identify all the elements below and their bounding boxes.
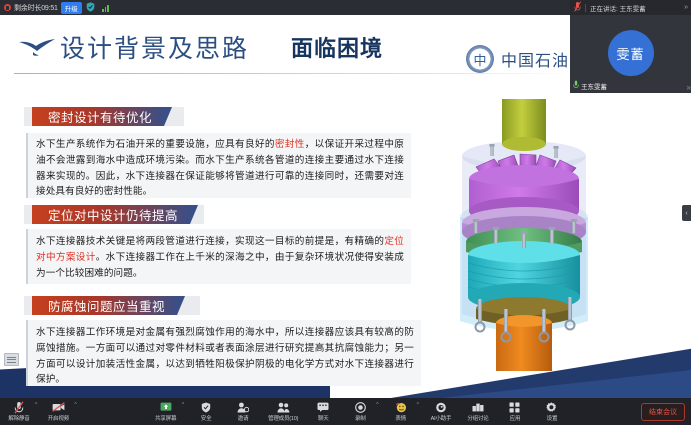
end-meeting-button[interactable]: 结束会议 [641,403,685,421]
participants-icon [277,402,290,413]
mic-muted-icon [574,1,581,14]
chevron-up-icon[interactable]: ^ [35,402,37,408]
gear-icon [546,402,557,413]
participants-label: 管理成员(10) [268,414,298,422]
petrochina-logo-icon [466,45,494,73]
reactions-control[interactable]: 表情 ^ [386,402,419,422]
start-video-button[interactable]: 开启视频 [43,402,73,422]
avatar: 雯蓄 [608,30,654,76]
paragraph-2: 水下连接器技术关键是将两段管道进行连接，实现这一目标的前提是，有精确的定位对中方… [36,234,404,281]
reactions-label: 表情 [395,414,406,422]
security-button[interactable]: 安全 [191,402,221,422]
invite-button[interactable]: 邀请 [228,402,258,422]
participants-button[interactable]: 管理成员(10) [265,402,301,422]
mic-on-icon [573,80,579,91]
start-video-label: 开启视频 [48,414,69,422]
record-label: 录制 [355,414,366,422]
paragraph-1: 水下生产系统作为石油开采的重要设施，应具有良好的密封性，以保证开采过程中原油不会… [36,137,404,200]
breakout-rooms-label: 分组讨论 [467,414,488,422]
subsea-connector-3d-model [432,99,607,371]
chevron-up-icon[interactable]: ^ [74,402,76,408]
unmute-label: 解除静音 [8,414,29,422]
double-chevron-right-icon[interactable]: » [684,4,687,11]
apps-button[interactable]: 应用 [500,402,530,422]
apps-label: 应用 [510,414,521,422]
para-2-part-0: 水下连接器技术关键是将两段管道进行连接，实现这一目标的前提是，有精确的 [36,236,384,247]
para-1-highlight: 密封性 [275,139,305,150]
brand-label: 中国石油 [501,47,569,71]
breakout-rooms-button[interactable]: 分组讨论 [463,402,493,422]
breakout-rooms-icon [472,402,484,413]
security-label: 安全 [201,414,212,422]
shield-icon[interactable] [85,0,97,17]
toolbar-middle-group: 共享屏幕 ^ 安全 邀请 管理成员(10) 聊天 [151,402,567,422]
apps-grid-icon [509,402,520,413]
page-subtitle: 面临困境 [291,31,383,63]
chat-label: 聊天 [318,414,329,422]
reactions-icon [395,402,407,413]
recording-indicator-icon [4,4,11,11]
video-participant-tile[interactable]: 雯蓄 王东雯蓄 » [570,15,691,93]
active-speaker-banner: 正在讲话: 王东雯蓄 » [570,0,691,15]
start-video-control[interactable]: 开启视频 ^ [43,402,76,422]
paragraph-3: 水下连接器工作环境是对金属有强烈腐蚀作用的海水中，所以连接器应该具有较高的防腐蚀… [36,325,414,388]
invite-person-icon [237,402,249,413]
chevron-up-icon[interactable]: ^ [182,402,184,408]
chevron-up-icon[interactable]: ^ [376,402,378,408]
settings-label: 设置 [547,414,558,422]
bird-swoosh-icon [18,36,56,58]
signal-bars-icon[interactable] [100,0,112,17]
mic-muted-icon [14,402,24,413]
brand-lockup: 中国石油 [466,45,569,73]
record-button[interactable]: 录制 [345,402,375,422]
share-screen-control[interactable]: 共享屏幕 ^ [151,402,184,422]
para-3-part-0: 水下连接器工作环境是对金属有强烈腐蚀作用的海水中，所以连接器应该具有较高的防腐蚀… [36,327,414,385]
settings-button[interactable]: 设置 [537,402,567,422]
unmute-button[interactable]: 解除静音 [4,402,34,422]
unmute-control[interactable]: 解除静音 ^ [4,402,37,422]
participant-name-label: 王东雯蓄 [581,81,607,91]
collapse-panel-icon[interactable]: ‹ [682,205,691,221]
share-screen-label: 共享屏幕 [155,414,176,422]
chat-bubble-icon [317,402,329,413]
ai-assistant-label: AI小助手 [431,414,452,422]
record-icon [355,402,366,413]
shield-icon [201,402,211,413]
para-1-part-0: 水下生产系统作为石油开采的重要设施，应具有良好的 [36,139,275,150]
active-speaker-label: 正在讲话: 王东雯蓄 [590,3,646,13]
record-control[interactable]: 录制 ^ [345,402,378,422]
top-bar-left: 剩余时长09:51 升级 [0,0,112,17]
reactions-button[interactable]: 表情 [386,402,416,422]
slide-title-row: 设计背景及思路 面临困境 [18,29,383,65]
toolbar-right-group: 结束会议 [641,403,691,421]
camera-off-icon [52,402,65,413]
share-screen-icon [160,402,172,413]
chat-button[interactable]: 聊天 [308,402,338,422]
ai-assistant-button[interactable]: AI小助手 [426,402,456,422]
toolbar-left-group: 解除静音 ^ 开启视频 ^ [0,402,77,422]
share-screen-button[interactable]: 共享屏幕 [151,402,181,422]
remaining-time-label: 剩余时长09:51 [14,3,58,13]
resize-corner-icon[interactable]: » [687,83,689,92]
ai-assistant-icon [435,402,447,413]
section-heading-2: 定位对中设计仍待提高 [32,205,190,224]
section-heading-1: 密封设计有待优化 [32,107,164,126]
page-title: 设计背景及思路 [60,29,249,65]
participant-nameplate: 王东雯蓄 [573,80,607,91]
invite-label: 邀请 [238,414,249,422]
meeting-toolbar: 解除静音 ^ 开启视频 ^ 共享屏幕 ^ [0,398,691,425]
upgrade-button[interactable]: 升级 [61,2,82,14]
chevron-up-icon[interactable]: ^ [417,402,419,408]
slide-list-icon[interactable] [4,353,19,366]
title-divider [14,73,574,74]
section-heading-3: 防腐蚀问题应当重视 [32,296,177,315]
divider [585,4,586,12]
